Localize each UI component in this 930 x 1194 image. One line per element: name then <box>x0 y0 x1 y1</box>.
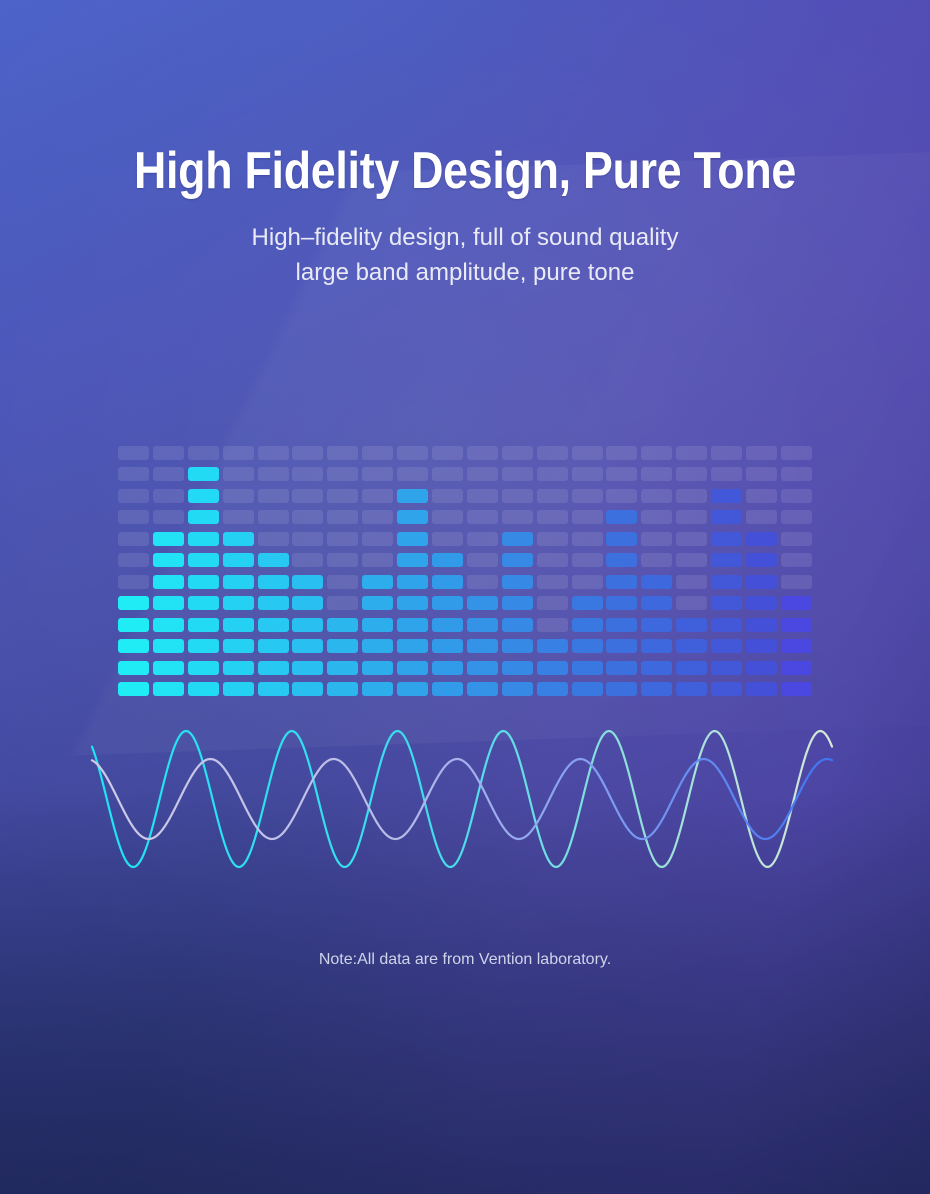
equalizer-segment-lit <box>223 661 254 675</box>
equalizer-column <box>223 438 254 696</box>
equalizer-segment-unlit <box>118 510 149 524</box>
equalizer-segment-unlit <box>118 489 149 503</box>
equalizer-segment-unlit <box>572 510 603 524</box>
equalizer-segment-unlit <box>572 553 603 567</box>
equalizer-segment-unlit <box>711 467 742 481</box>
equalizer-segment-lit <box>467 618 498 632</box>
equalizer-segment-lit <box>502 661 533 675</box>
equalizer-segment-unlit <box>362 510 393 524</box>
equalizer-segment-lit <box>781 596 812 610</box>
equalizer-column <box>641 438 672 696</box>
equalizer-column <box>432 438 463 696</box>
equalizer-segment-unlit <box>258 467 289 481</box>
equalizer-segment-unlit <box>781 553 812 567</box>
equalizer-segment-unlit <box>676 596 707 610</box>
equalizer-segment-unlit <box>467 446 498 460</box>
equalizer-segment-lit <box>781 661 812 675</box>
equalizer-segment-lit <box>606 575 637 589</box>
equalizer-segment-unlit <box>641 489 672 503</box>
equalizer-segment-lit <box>188 510 219 524</box>
equalizer-column <box>153 438 184 696</box>
equalizer-segment-lit <box>537 639 568 653</box>
equalizer-segment-unlit <box>711 446 742 460</box>
equalizer-segment-lit <box>188 467 219 481</box>
equalizer-segment-lit <box>432 575 463 589</box>
equalizer-segment-lit <box>258 639 289 653</box>
equalizer-segment-lit <box>327 639 358 653</box>
equalizer-segment-lit <box>572 682 603 696</box>
equalizer-segment-lit <box>153 682 184 696</box>
equalizer-segment-unlit <box>467 489 498 503</box>
equalizer-segment-unlit <box>746 489 777 503</box>
equalizer-segment-lit <box>467 661 498 675</box>
equalizer-segment-lit <box>153 596 184 610</box>
equalizer-segment-lit <box>606 661 637 675</box>
equalizer-segment-lit <box>188 682 219 696</box>
equalizer-segment-lit <box>606 618 637 632</box>
equalizer-segment-lit <box>397 639 428 653</box>
equalizer-segment-unlit <box>537 532 568 546</box>
equalizer-segment-lit <box>641 596 672 610</box>
equalizer-segment-unlit <box>572 467 603 481</box>
equalizer-segment-lit <box>502 575 533 589</box>
equalizer-segment-lit <box>641 639 672 653</box>
equalizer-segment-unlit <box>292 553 323 567</box>
equalizer-segment-lit <box>746 639 777 653</box>
equalizer-segment-unlit <box>781 510 812 524</box>
equalizer-column <box>606 438 637 696</box>
equalizer-segment-unlit <box>292 510 323 524</box>
equalizer-segment-unlit <box>258 489 289 503</box>
equalizer-segment-unlit <box>223 510 254 524</box>
equalizer-segment-lit <box>153 553 184 567</box>
promo-banner: High Fidelity Design, Pure Tone High–fid… <box>0 0 930 1194</box>
equalizer-segment-lit <box>537 682 568 696</box>
equalizer-segment-unlit <box>118 553 149 567</box>
equalizer-segment-lit <box>188 596 219 610</box>
equalizer-segment-lit <box>676 661 707 675</box>
equalizer-column <box>781 438 812 696</box>
equalizer-segment-lit <box>362 618 393 632</box>
equalizer-segment-unlit <box>432 489 463 503</box>
equalizer-segment-lit <box>746 532 777 546</box>
equalizer-segment-unlit <box>781 489 812 503</box>
equalizer-segment-lit <box>188 532 219 546</box>
equalizer-segment-unlit <box>746 467 777 481</box>
equalizer-segment-lit <box>432 682 463 696</box>
equalizer-segment-unlit <box>537 618 568 632</box>
equalizer-segment-lit <box>188 575 219 589</box>
equalizer-segment-lit <box>362 661 393 675</box>
equalizer-segment-lit <box>502 618 533 632</box>
equalizer-segment-lit <box>641 661 672 675</box>
equalizer-segment-lit <box>711 618 742 632</box>
equalizer-segment-lit <box>502 596 533 610</box>
equalizer-segment-lit <box>118 596 149 610</box>
equalizer-segment-lit <box>572 596 603 610</box>
equalizer-segment-lit <box>502 639 533 653</box>
equalizer-segment-lit <box>397 489 428 503</box>
equalizer-segment-lit <box>606 510 637 524</box>
equalizer-segment-unlit <box>502 489 533 503</box>
equalizer-segment-lit <box>223 682 254 696</box>
equalizer-segment-unlit <box>118 575 149 589</box>
equalizer-segment-unlit <box>537 489 568 503</box>
equalizer-segment-unlit <box>327 446 358 460</box>
equalizer-segment-lit <box>606 532 637 546</box>
equalizer-segment-lit <box>502 553 533 567</box>
equalizer-segment-lit <box>397 510 428 524</box>
equalizer-segment-lit <box>746 618 777 632</box>
equalizer-segment-lit <box>397 532 428 546</box>
equalizer-segment-unlit <box>362 446 393 460</box>
equalizer-segment-unlit <box>467 532 498 546</box>
equalizer-segment-lit <box>188 618 219 632</box>
equalizer-segment-lit <box>711 532 742 546</box>
equalizer-segment-lit <box>292 661 323 675</box>
equalizer-segment-unlit <box>327 532 358 546</box>
equalizer-segment-lit <box>746 661 777 675</box>
equalizer-column <box>537 438 568 696</box>
equalizer-column <box>292 438 323 696</box>
equalizer-segment-lit <box>118 618 149 632</box>
equalizer-segment-lit <box>223 639 254 653</box>
equalizer-segment-lit <box>711 661 742 675</box>
equalizer-segment-lit <box>223 553 254 567</box>
equalizer-segment-unlit <box>641 467 672 481</box>
equalizer-segment-lit <box>572 661 603 675</box>
equalizer-segment-unlit <box>572 446 603 460</box>
equalizer-segment-lit <box>711 489 742 503</box>
equalizer-segment-lit <box>118 639 149 653</box>
equalizer-segment-unlit <box>118 467 149 481</box>
equalizer-segment-lit <box>223 618 254 632</box>
equalizer-segment-lit <box>292 639 323 653</box>
equalizer-column <box>397 438 428 696</box>
equalizer-segment-unlit <box>362 467 393 481</box>
equalizer-column <box>258 438 289 696</box>
equalizer-segment-lit <box>258 575 289 589</box>
equalizer-segment-unlit <box>676 575 707 589</box>
equalizer-segment-unlit <box>432 510 463 524</box>
subtitle-line-2: large band amplitude, pure tone <box>0 255 930 290</box>
equalizer-segment-lit <box>676 682 707 696</box>
equalizer-segment-lit <box>432 639 463 653</box>
equalizer-segment-unlit <box>153 510 184 524</box>
equalizer-segment-unlit <box>153 489 184 503</box>
equalizer-segment-lit <box>711 596 742 610</box>
equalizer-segment-lit <box>467 596 498 610</box>
equalizer-segment-lit <box>362 575 393 589</box>
equalizer-segment-lit <box>432 596 463 610</box>
equalizer-segment-unlit <box>606 489 637 503</box>
equalizer-segment-lit <box>258 661 289 675</box>
equalizer-segment-lit <box>606 639 637 653</box>
equalizer-segment-unlit <box>606 467 637 481</box>
equalizer-segment-lit <box>746 596 777 610</box>
equalizer-segment-unlit <box>676 532 707 546</box>
equalizer-segment-lit <box>746 575 777 589</box>
equalizer-segment-unlit <box>223 446 254 460</box>
equalizer-segment-unlit <box>572 575 603 589</box>
equalizer-segment-lit <box>746 553 777 567</box>
equalizer-segment-lit <box>397 682 428 696</box>
equalizer-segment-lit <box>432 553 463 567</box>
equalizer-segment-unlit <box>537 553 568 567</box>
equalizer-segment-lit <box>606 553 637 567</box>
equalizer-segment-unlit <box>572 532 603 546</box>
equalizer-segment-unlit <box>781 575 812 589</box>
equalizer-segment-unlit <box>397 467 428 481</box>
equalizer-segment-lit <box>223 532 254 546</box>
equalizer-segment-unlit <box>467 510 498 524</box>
equalizer-segment-lit <box>711 682 742 696</box>
equalizer-segment-lit <box>537 661 568 675</box>
equalizer-segment-unlit <box>641 553 672 567</box>
equalizer-segment-unlit <box>502 467 533 481</box>
equalizer-column <box>746 438 777 696</box>
equalizer-segment-unlit <box>292 489 323 503</box>
equalizer-segment-lit <box>292 682 323 696</box>
equalizer-segment-lit <box>606 682 637 696</box>
equalizer-segment-unlit <box>781 446 812 460</box>
equalizer-segment-lit <box>572 618 603 632</box>
equalizer-segment-unlit <box>223 489 254 503</box>
equalizer-column <box>118 438 149 696</box>
equalizer-segment-lit <box>327 618 358 632</box>
equalizer-segment-unlit <box>327 596 358 610</box>
equalizer-segment-unlit <box>327 575 358 589</box>
equalizer-segment-lit <box>676 618 707 632</box>
equalizer-segment-lit <box>153 639 184 653</box>
equalizer-column <box>676 438 707 696</box>
equalizer-column <box>467 438 498 696</box>
waveform-chart <box>80 698 850 893</box>
equalizer-segment-lit <box>362 639 393 653</box>
equalizer-segment-unlit <box>397 446 428 460</box>
equalizer-segment-unlit <box>537 596 568 610</box>
equalizer-segment-lit <box>711 553 742 567</box>
equalizer-segment-unlit <box>502 510 533 524</box>
equalizer-segment-lit <box>641 682 672 696</box>
equalizer-segment-lit <box>118 682 149 696</box>
equalizer-segment-lit <box>746 682 777 696</box>
equalizer-segment-unlit <box>118 532 149 546</box>
equalizer-segment-unlit <box>327 467 358 481</box>
equalizer-segment-unlit <box>641 446 672 460</box>
equalizer-segment-lit <box>711 575 742 589</box>
equalizer-segment-lit <box>397 618 428 632</box>
equalizer-segment-lit <box>606 596 637 610</box>
equalizer-column <box>502 438 533 696</box>
equalizer-segment-lit <box>223 575 254 589</box>
equalizer-column <box>327 438 358 696</box>
equalizer-segment-unlit <box>676 489 707 503</box>
equalizer-segment-unlit <box>606 446 637 460</box>
equalizer-segment-unlit <box>432 446 463 460</box>
equalizer-segment-unlit <box>467 553 498 567</box>
equalizer-segment-unlit <box>676 553 707 567</box>
equalizer-segment-lit <box>292 596 323 610</box>
equalizer-segment-unlit <box>676 467 707 481</box>
equalizer-segment-unlit <box>746 510 777 524</box>
equalizer-segment-lit <box>397 575 428 589</box>
equalizer-segment-lit <box>502 532 533 546</box>
equalizer-segment-lit <box>223 596 254 610</box>
equalizer-segment-unlit <box>362 532 393 546</box>
equalizer-segment-lit <box>432 618 463 632</box>
equalizer-segment-unlit <box>641 532 672 546</box>
equalizer-segment-unlit <box>188 446 219 460</box>
equalizer-segment-unlit <box>223 467 254 481</box>
equalizer-segment-lit <box>641 575 672 589</box>
equalizer-segment-lit <box>153 618 184 632</box>
equalizer-segment-unlit <box>746 446 777 460</box>
page-subtitle: High–fidelity design, full of sound qual… <box>0 220 930 290</box>
equalizer-segment-unlit <box>258 532 289 546</box>
equalizer-segment-unlit <box>118 446 149 460</box>
equalizer-segment-lit <box>188 553 219 567</box>
equalizer-segment-unlit <box>258 510 289 524</box>
equalizer-segment-lit <box>327 682 358 696</box>
equalizer-segment-lit <box>188 661 219 675</box>
equalizer-segment-lit <box>188 489 219 503</box>
equalizer-column <box>362 438 393 696</box>
equalizer-segment-lit <box>258 553 289 567</box>
equalizer-segment-lit <box>362 682 393 696</box>
equalizer-segment-lit <box>676 639 707 653</box>
equalizer-segment-unlit <box>467 467 498 481</box>
equalizer-segment-unlit <box>537 446 568 460</box>
equalizer-segment-unlit <box>537 467 568 481</box>
equalizer-segment-lit <box>781 639 812 653</box>
equalizer-segment-lit <box>153 532 184 546</box>
equalizer-segment-unlit <box>362 553 393 567</box>
equalizer-segment-unlit <box>292 467 323 481</box>
equalizer-chart <box>118 438 812 696</box>
equalizer-segment-lit <box>153 575 184 589</box>
equalizer-segment-lit <box>781 618 812 632</box>
equalizer-segment-lit <box>327 661 358 675</box>
equalizer-segment-unlit <box>292 532 323 546</box>
equalizer-segment-unlit <box>153 467 184 481</box>
equalizer-segment-unlit <box>153 446 184 460</box>
equalizer-segment-lit <box>432 661 463 675</box>
equalizer-segment-lit <box>397 553 428 567</box>
equalizer-column <box>711 438 742 696</box>
page-title: High Fidelity Design, Pure Tone <box>65 142 865 200</box>
equalizer-segment-unlit <box>327 489 358 503</box>
equalizer-segment-lit <box>467 682 498 696</box>
equalizer-column <box>572 438 603 696</box>
equalizer-segment-unlit <box>781 467 812 481</box>
equalizer-segment-lit <box>397 596 428 610</box>
equalizer-segment-lit <box>118 661 149 675</box>
equalizer-segment-lit <box>711 510 742 524</box>
equalizer-segment-unlit <box>292 446 323 460</box>
equalizer-segment-unlit <box>537 510 568 524</box>
equalizer-segment-unlit <box>572 489 603 503</box>
waveform-svg <box>80 698 850 893</box>
equalizer-segment-lit <box>258 682 289 696</box>
header-block: High Fidelity Design, Pure Tone High–fid… <box>0 142 930 290</box>
footnote: Note:All data are from Vention laborator… <box>0 949 930 971</box>
equalizer-segment-unlit <box>432 532 463 546</box>
equalizer-segment-lit <box>572 639 603 653</box>
equalizer-segment-unlit <box>676 510 707 524</box>
equalizer-segment-lit <box>188 639 219 653</box>
equalizer-segment-unlit <box>327 510 358 524</box>
equalizer-segment-lit <box>153 661 184 675</box>
equalizer-segment-unlit <box>327 553 358 567</box>
equalizer-segment-unlit <box>781 532 812 546</box>
equalizer-segment-lit <box>641 618 672 632</box>
equalizer-segment-lit <box>397 661 428 675</box>
equalizer-segment-unlit <box>362 489 393 503</box>
equalizer-segment-lit <box>467 639 498 653</box>
equalizer-column <box>188 438 219 696</box>
equalizer-segment-unlit <box>467 575 498 589</box>
equalizer-segment-lit <box>292 618 323 632</box>
equalizer-segment-unlit <box>502 446 533 460</box>
equalizer-segment-lit <box>362 596 393 610</box>
equalizer-segment-unlit <box>258 446 289 460</box>
equalizer-segment-unlit <box>432 467 463 481</box>
equalizer-segment-unlit <box>537 575 568 589</box>
equalizer-segment-lit <box>292 575 323 589</box>
equalizer-segment-lit <box>258 596 289 610</box>
equalizer-segment-unlit <box>676 446 707 460</box>
equalizer-segment-unlit <box>641 510 672 524</box>
subtitle-line-1: High–fidelity design, full of sound qual… <box>0 220 930 255</box>
equalizer-segment-lit <box>711 639 742 653</box>
equalizer-segment-lit <box>258 618 289 632</box>
equalizer-segment-lit <box>781 682 812 696</box>
equalizer-segment-lit <box>502 682 533 696</box>
